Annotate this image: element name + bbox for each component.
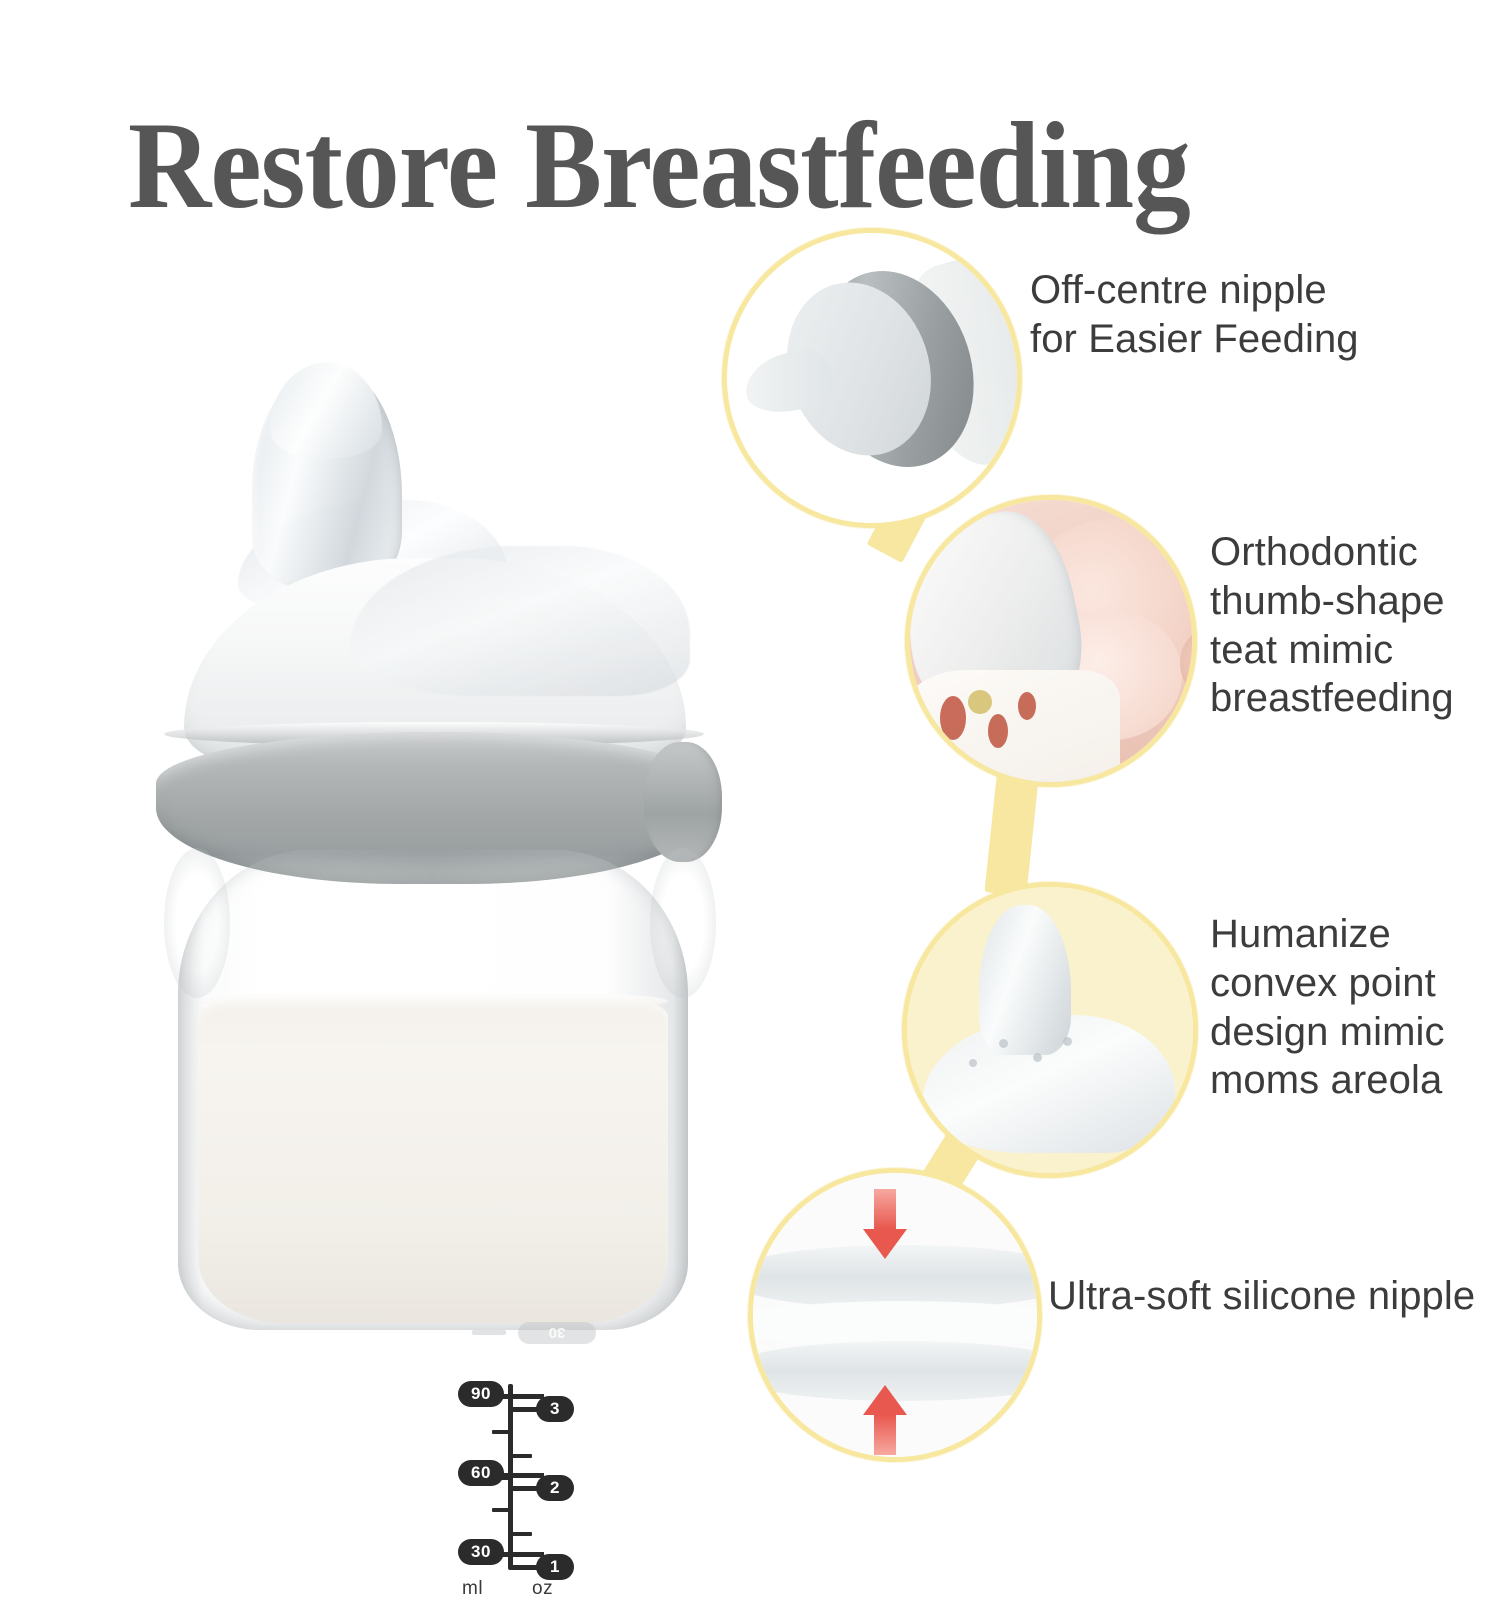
scale-lead-oz3 bbox=[512, 1407, 542, 1412]
feature-label-ultra-soft-silicone: Ultra-soft silicone nipple bbox=[1048, 1272, 1475, 1321]
teat-nipple-shape bbox=[979, 905, 1071, 1055]
scale-lead-90 bbox=[500, 1394, 544, 1399]
scale-badge-ml-60: 60 bbox=[458, 1460, 504, 1486]
collar-tab bbox=[644, 742, 722, 862]
scale-lead-oz2 bbox=[512, 1486, 542, 1491]
feature-image-off-centre-nipple bbox=[722, 228, 1022, 528]
scale-badge-ml-90: 90 bbox=[458, 1381, 504, 1407]
ghost-ml-badge: 30 bbox=[518, 1322, 596, 1344]
bottle-waist-left bbox=[164, 848, 230, 998]
scale-tick-1 bbox=[492, 1430, 510, 1434]
cloth-pattern-dot bbox=[988, 714, 1008, 748]
teat-tip bbox=[270, 362, 382, 458]
ghost-tick bbox=[472, 1330, 506, 1335]
bottle-top-angled-photo bbox=[727, 233, 1017, 523]
scale-tick-5 bbox=[508, 1532, 532, 1536]
feature-image-convex-point-design bbox=[902, 882, 1198, 1178]
scale-lead-oz1 bbox=[512, 1565, 542, 1570]
bottle-waist-right bbox=[650, 848, 716, 998]
page-title: Restore Breastfeeding bbox=[128, 104, 1190, 228]
nipple-compression-photo bbox=[753, 1173, 1037, 1457]
convex-point bbox=[999, 1039, 1008, 1048]
pressure-arrow-up bbox=[863, 1385, 907, 1455]
convex-point bbox=[969, 1059, 977, 1067]
infographic-canvas: Restore Breastfeeding 30 90 3 bbox=[0, 0, 1500, 1500]
cloth-pattern-dot bbox=[968, 690, 992, 714]
feature-image-orthodontic-teat bbox=[905, 495, 1197, 787]
milk-surface bbox=[198, 990, 668, 1012]
measurement-scale: 90 3 60 2 30 1 ml oz bbox=[460, 1360, 600, 1610]
silicone-teat-closeup-photo bbox=[907, 887, 1193, 1173]
scale-lead-60 bbox=[500, 1473, 544, 1478]
feature-label-orthodontic-teat: Orthodontic thumb-shape teat mimic breas… bbox=[1210, 528, 1454, 723]
pressure-arrow-down bbox=[863, 1189, 907, 1259]
baby-feeding-photo bbox=[910, 500, 1192, 782]
feature-image-ultra-soft-silicone bbox=[748, 1168, 1042, 1462]
scale-tick-2 bbox=[508, 1454, 532, 1458]
scale-badge-ml-30: 30 bbox=[458, 1539, 504, 1565]
milk-fill bbox=[198, 998, 668, 1323]
scale-unit-ml: ml bbox=[462, 1578, 483, 1600]
patterned-cloth bbox=[905, 670, 1120, 787]
cloth-pattern-dot bbox=[940, 696, 966, 740]
cloth-pattern-dot bbox=[1018, 692, 1036, 720]
scale-unit-oz: oz bbox=[532, 1578, 553, 1600]
scale-lead-30 bbox=[500, 1552, 544, 1557]
feature-label-convex-point-design: Humanize convex point design mimic moms … bbox=[1210, 910, 1445, 1105]
scale-tick-4 bbox=[492, 1508, 510, 1512]
baby-bottle-product-image: 30 90 3 60 2 30 1 ml oz bbox=[120, 350, 760, 1410]
convex-point bbox=[1063, 1037, 1072, 1046]
convex-point bbox=[1033, 1053, 1042, 1062]
feature-label-off-centre-nipple: Off-centre nipple for Easier Feeding bbox=[1030, 266, 1359, 364]
